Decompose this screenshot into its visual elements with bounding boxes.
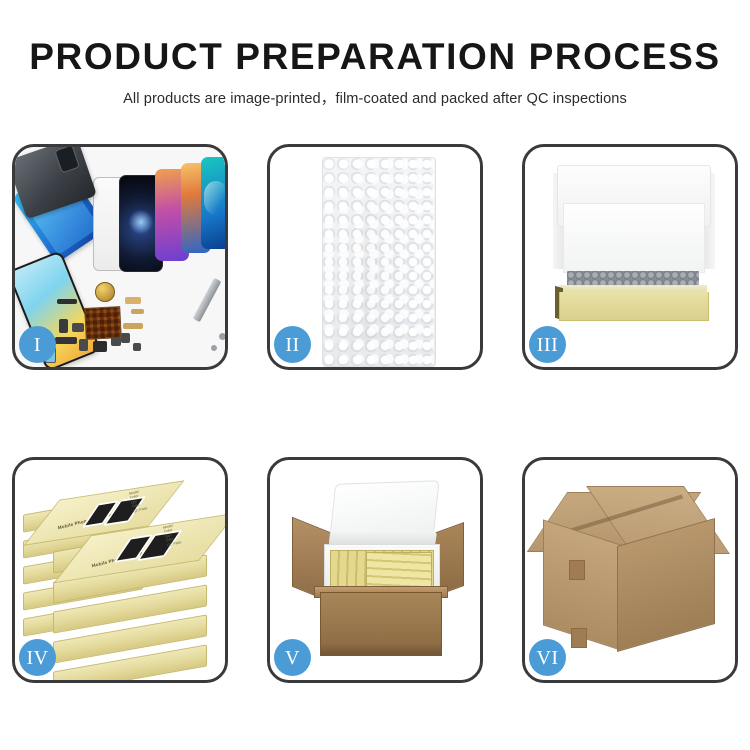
component-icon [123,323,143,329]
page-title: PRODUCT PREPARATION PROCESS [0,38,750,75]
header: PRODUCT PREPARATION PROCESS All products… [0,0,750,108]
chip-grid-icon [84,306,122,340]
step-panel-5: V [267,457,483,683]
page-subtitle: All products are image-printed，film-coat… [0,87,750,108]
steps-grid: I II [12,144,738,683]
component-icon [121,333,130,343]
step-panel-2: II [267,144,483,370]
foam-sheet-icon [563,203,705,273]
speaker-coin-icon [95,282,115,302]
teal-phone-icon [201,157,225,249]
carton-tape-icon [569,560,585,580]
carton-tape-icon [571,628,587,648]
component-icon [57,299,77,304]
step-panel-6: VI [522,457,738,683]
step-badge-2: II [274,326,311,363]
step-badge-6: VI [529,639,566,676]
component-icon [79,339,88,351]
step-badge-5: V [274,639,311,676]
yellow-box-front [559,292,709,321]
step-badge-1: I [19,326,56,363]
component-icon [111,337,121,346]
step-badge-3: III [529,326,566,363]
screw-icon [211,345,217,351]
step-badge-4: IV [19,639,56,676]
step-panel-1: I [12,144,228,370]
component-icon [72,323,84,332]
screw-icon [219,333,225,340]
component-icon [93,341,107,352]
bubble-bag-icon [322,157,436,367]
component-icon [59,319,68,333]
carton-front-face [320,592,442,656]
step-panel-4: Mobile Phone Spare Parts Model Color Qty… [12,457,228,683]
component-icon [133,343,141,351]
screwdriver-icon [193,278,222,322]
step-panel-3: III [522,144,738,370]
component-icon [125,297,141,304]
product-preparation-infographic: PRODUCT PREPARATION PROCESS All products… [0,0,750,750]
component-icon [131,309,144,314]
component-icon [55,337,77,344]
